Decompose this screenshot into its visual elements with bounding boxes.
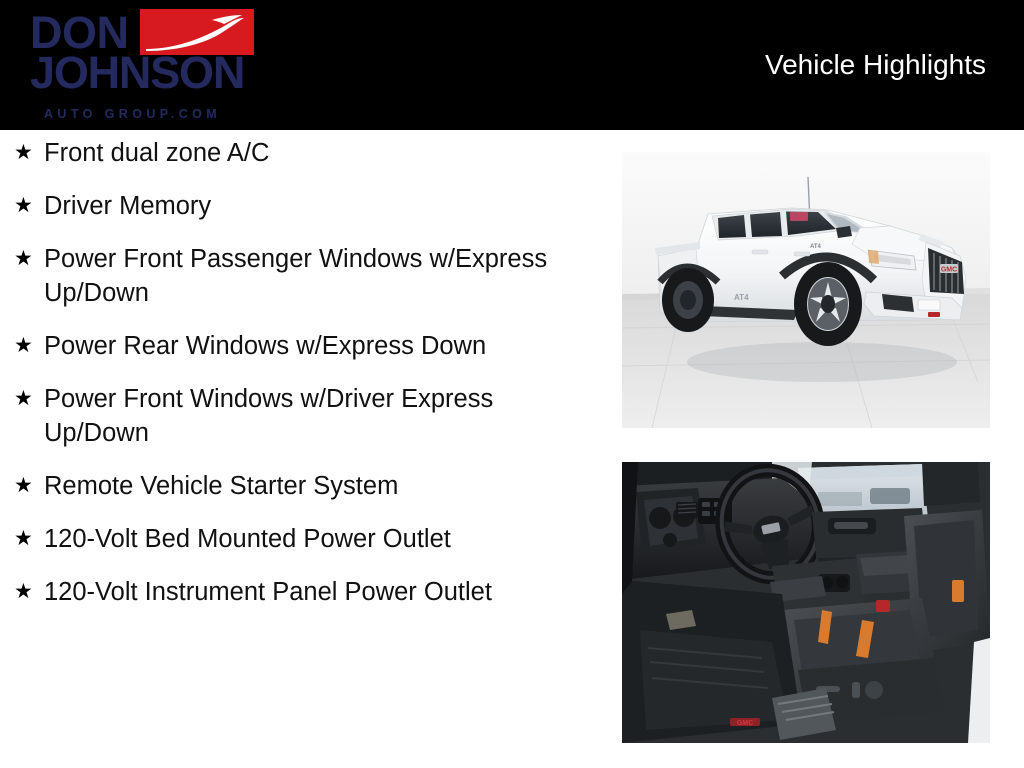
star-bullet-icon: ★ (14, 329, 44, 363)
star-bullet-icon: ★ (14, 469, 44, 503)
svg-text:GMC: GMC (737, 720, 753, 727)
star-bullet-icon: ★ (14, 136, 44, 170)
list-item: ★ Front dual zone A/C (0, 136, 600, 170)
list-item-label: Power Front Passenger Windows w/Express … (44, 242, 574, 310)
star-bullet-icon: ★ (14, 575, 44, 609)
list-item-label: Power Rear Windows w/Express Down (44, 329, 574, 363)
svg-text:AT4: AT4 (810, 244, 822, 250)
star-bullet-icon: ★ (14, 189, 44, 223)
page-title: Vehicle Highlights (765, 51, 986, 79)
list-item-label: Power Front Windows w/Driver Express Up/… (44, 382, 574, 450)
list-item-label: Front dual zone A/C (44, 136, 574, 170)
list-item: ★ Driver Memory (0, 189, 600, 223)
slide-root: DON JOHNSON AUTO GROUP.COM Vehicle Highl… (0, 0, 1024, 768)
dealer-logo[interactable]: DON JOHNSON AUTO GROUP.COM (18, 4, 268, 130)
truck-exterior-image[interactable]: GMC (622, 152, 990, 428)
truck-interior-image[interactable]: GMC (622, 462, 990, 743)
list-item: ★ Power Rear Windows w/Express Down (0, 329, 600, 363)
list-item: ★ Power Front Passenger Windows w/Expres… (0, 242, 600, 310)
list-item-label: 120-Volt Instrument Panel Power Outlet (44, 575, 574, 609)
list-item-label: 120-Volt Bed Mounted Power Outlet (44, 522, 574, 556)
logo-line-johnson: JOHNSON (30, 50, 244, 95)
list-item-label: Driver Memory (44, 189, 574, 223)
list-item: ★ 120-Volt Bed Mounted Power Outlet (0, 522, 600, 556)
list-item-label: Remote Vehicle Starter System (44, 469, 574, 503)
list-item: ★ Remote Vehicle Starter System (0, 469, 600, 503)
star-bullet-icon: ★ (14, 242, 44, 276)
logo-tagline: AUTO GROUP.COM (44, 108, 221, 121)
feature-list: ★ Front dual zone A/C ★ Driver Memory ★ … (0, 136, 600, 628)
svg-text:AT4: AT4 (734, 293, 749, 302)
list-item: ★ 120-Volt Instrument Panel Power Outlet (0, 575, 600, 609)
star-bullet-icon: ★ (14, 382, 44, 416)
header-bar: DON JOHNSON AUTO GROUP.COM Vehicle Highl… (0, 0, 1024, 130)
svg-text:GMC: GMC (941, 267, 957, 274)
list-item: ★ Power Front Windows w/Driver Express U… (0, 382, 600, 450)
star-bullet-icon: ★ (14, 522, 44, 556)
